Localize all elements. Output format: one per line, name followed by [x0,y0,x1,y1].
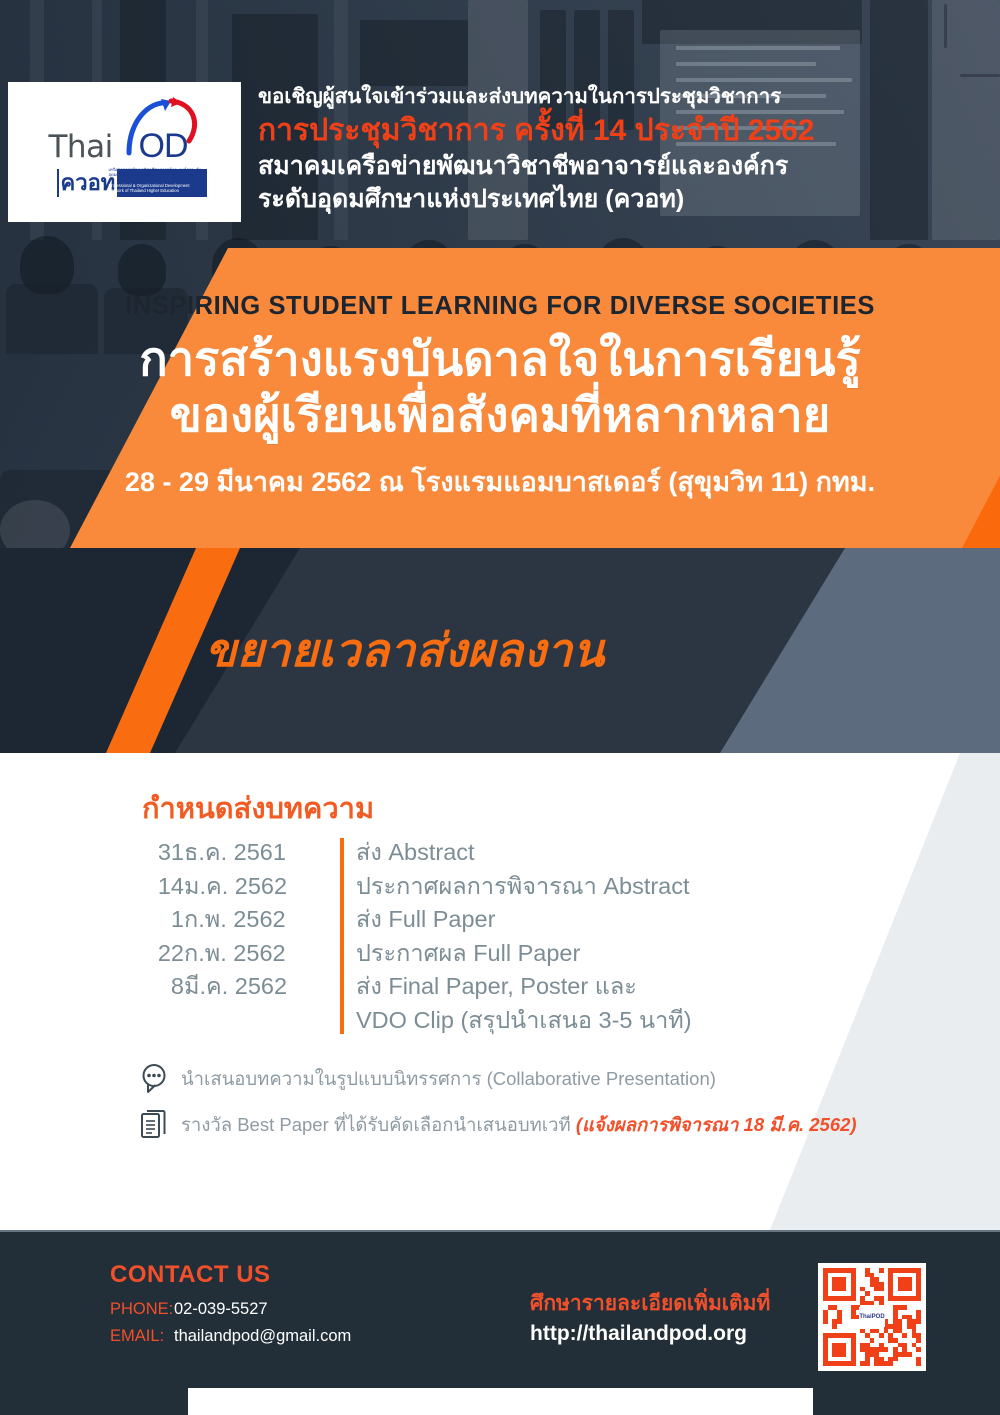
organization-line-1: สมาคมเครือข่ายพัฒนาวิชาชีพอาจารย์และองค์… [258,150,978,183]
theme-thai-line-2: ของผู้เรียนเพื่อสังคมที่หลากหลาย [0,387,1000,443]
thaipod-logo: Thai OD ควอท เครือข่ายการพัฒนาวิชาชีพอาจ… [8,82,241,222]
conference-poster: Thai OD ควอท เครือข่ายการพัฒนาวิชาชีพอาจ… [0,0,1000,1415]
schedule-day: 8 [142,970,184,1004]
organization-line-2: ระดับอุดมศึกษาแห่งประเทศไทย (ควอท) [258,183,978,216]
list-item: นำเสนอบทความในรูปแบบนิทรรศการ (Collabora… [140,1063,900,1093]
qr-center-logo: ThaiPOD [859,1307,885,1327]
contact-heading: CONTACT US [110,1261,271,1289]
schedule-description: ส่ง Abstract [356,836,692,870]
event-date-venue: 28 - 29 มีนาคม 2562 ณ โรงแรมแอมบาสเดอร์ … [0,460,1000,503]
conference-title-line: การประชุมวิชาการ ครั้งที่ 14 ประจำปี 256… [258,112,978,150]
logo-sub-english: Professional & Organizational Developmen… [109,183,205,193]
schedule-month: มี.ค. 2562 [184,970,334,1004]
schedule-divider [334,870,356,904]
schedule-description: ประกาศผล Full Paper [356,937,692,971]
footer-divider [0,1230,1000,1232]
schedule-day [142,1004,184,1038]
schedule-description: ส่ง Full Paper [356,903,692,937]
logo-thai-text: Thai [49,129,113,165]
documents-icon [140,1109,168,1139]
logo-sub-thai: เครือข่ายการพัฒนาวิชาชีพอาจารย์และองค์กร… [109,167,205,177]
note-text-2-main: รางวัล Best Paper ที่ได้รับคัดเลือกนำเสน… [181,1114,576,1135]
schedule-description: ส่ง Final Paper, Poster และ [356,970,692,1004]
theme-banner-content: INSPIRING STUDENT LEARNING FOR DIVERSE S… [0,248,1000,548]
schedule-day: 31 [142,836,184,870]
schedule-heading: กำหนดส่งบทความ [142,785,374,831]
schedule-table: 31ธ.ค. 2561ส่ง Abstract14ม.ค. 2562ประกาศ… [142,836,692,1037]
table-row: 31ธ.ค. 2561ส่ง Abstract [142,836,692,870]
schedule-day: 14 [142,870,184,904]
phone-label: PHONE: [110,1300,174,1319]
table-row: 1ก.พ. 2562ส่ง Full Paper [142,903,692,937]
content-diagonal-accent [770,753,1000,1230]
invite-line: ขอเชิญผู้สนใจเข้าร่วมและส่งบทความในการปร… [258,84,978,110]
header-text-block: ขอเชิญผู้สนใจเข้าร่วมและส่งบทความในการปร… [258,84,978,216]
schedule-rows: 31ธ.ค. 2561ส่ง Abstract14ม.ค. 2562ประกาศ… [142,836,692,1037]
schedule-month: ก.พ. 2562 [184,903,334,937]
qr-code[interactable]: ThaiPOD [818,1263,926,1371]
schedule-day: 1 [142,903,184,937]
note-text-1: นำเสนอบทความในรูปแบบนิทรรศการ (Collabora… [181,1063,716,1093]
theme-thai-line-1: การสร้างแรงบันดาลใจในการเรียนรู้ [0,331,1000,387]
table-row: 22ก.พ. 2562ประกาศผล Full Paper [142,937,692,971]
schedule-description: VDO Clip (สรุปนำเสนอ 3-5 นาที) [356,1004,692,1038]
table-row: VDO Clip (สรุปนำเสนอ 3-5 นาที) [142,1004,692,1038]
email-value[interactable]: thailandpod@gmail.com [174,1327,351,1345]
website-url[interactable]: http://thailandpod.org [530,1322,747,1346]
schedule-description: ประกาศผลการพิจารณา Abstract [356,870,692,904]
logo-od-text: OD [139,127,188,166]
note-text-2: รางวัล Best Paper ที่ได้รับคัดเลือกนำเสน… [181,1109,857,1139]
schedule-day: 22 [142,937,184,971]
schedule-month [184,1004,334,1038]
list-item: รางวัล Best Paper ที่ได้รับคัดเลือกนำเสน… [140,1109,900,1139]
phone-row: PHONE:02-039-5527 [110,1300,268,1319]
phone-value: 02-039-5527 [174,1300,268,1318]
table-row: 14ม.ค. 2562ประกาศผลการพิจารณา Abstract [142,870,692,904]
schedule-month: ม.ค. 2562 [184,870,334,904]
notes-list: นำเสนอบทความในรูปแบบนิทรรศการ (Collabora… [140,1063,900,1155]
schedule-month: ก.พ. 2562 [184,937,334,971]
email-label: EMAIL: [110,1327,174,1346]
table-row: 8มี.ค. 2562ส่ง Final Paper, Poster และ [142,970,692,1004]
bottom-white-panel [188,1388,813,1415]
schedule-divider [334,970,356,1004]
schedule-month: ธ.ค. 2561 [184,836,334,870]
speech-bubble-icon [140,1063,168,1093]
schedule-divider [334,903,356,937]
schedule-divider [334,836,356,870]
deadline-extended-label: ขยายเวลาส่งผลงาน [205,614,605,687]
schedule-divider [334,937,356,971]
email-row: EMAIL:thailandpod@gmail.com [110,1327,351,1346]
more-info-heading: ศึกษารายละเอียดเพิ่มเติมที่ [530,1287,770,1320]
schedule-divider [334,1004,356,1038]
theme-english: INSPIRING STUDENT LEARNING FOR DIVERSE S… [0,292,1000,321]
note-highlight: (แจ้งผลการพิจารณา 18 มี.ค. 2562) [576,1114,857,1135]
